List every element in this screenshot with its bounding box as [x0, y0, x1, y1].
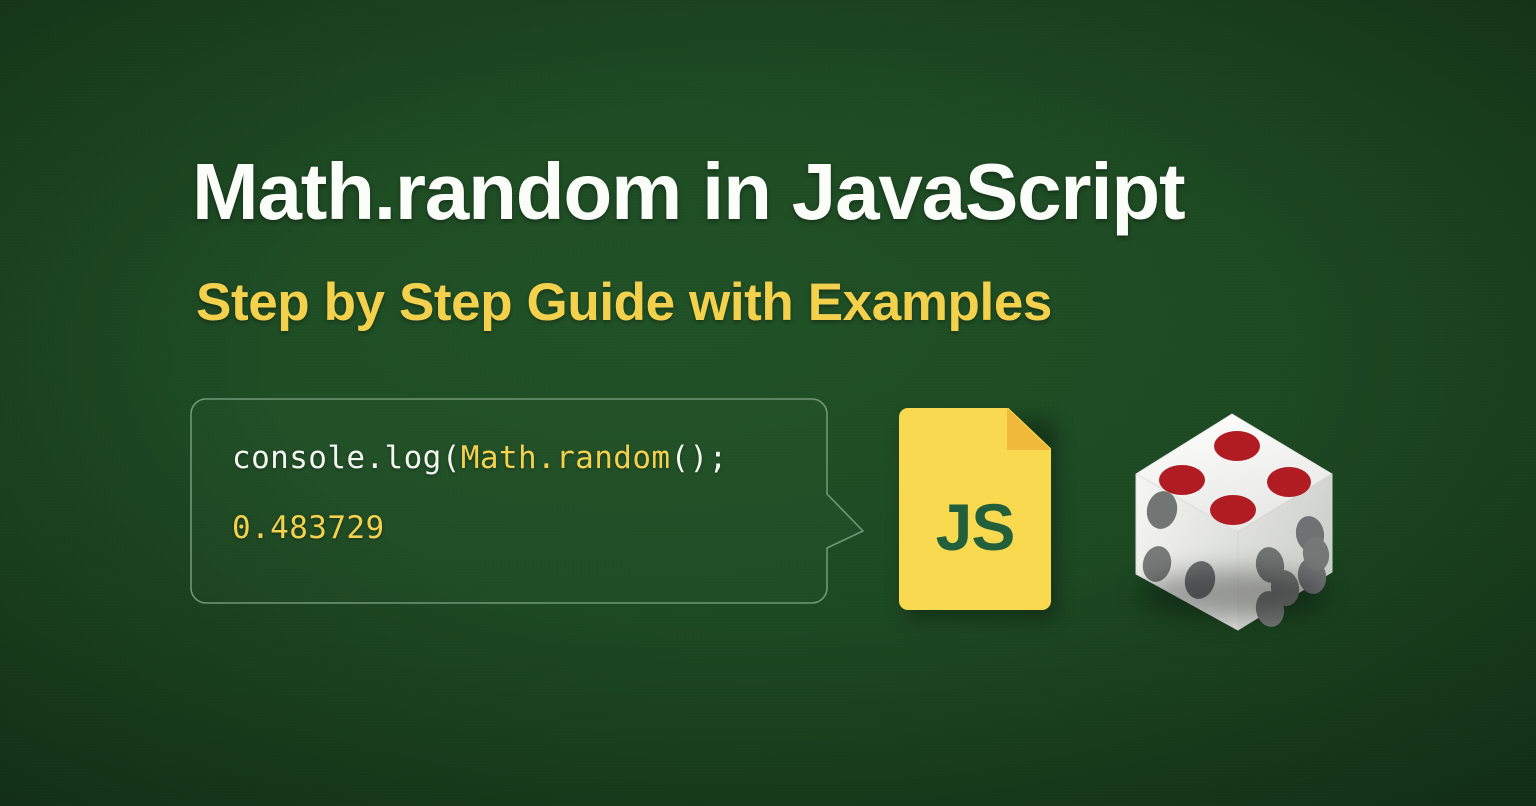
- dice-shadow: [1138, 570, 1328, 618]
- code-token-suffix: ();: [670, 440, 727, 476]
- js-icon-label: JS: [899, 494, 1051, 560]
- page-title: Math.random in JavaScript: [192, 146, 1184, 238]
- javascript-file-icon: JS: [899, 408, 1057, 616]
- dice-icon: [1120, 402, 1352, 642]
- code-line-statement: console.log(Math.random();: [232, 440, 828, 476]
- code-token-math-random: Math.random: [461, 440, 671, 476]
- page-subtitle: Step by Step Guide with Examples: [196, 272, 1052, 333]
- code-line-output: 0.483729: [232, 510, 828, 546]
- code-speech-bubble: console.log(Math.random(); 0.483729: [190, 398, 870, 613]
- banner-canvas: Math.random in JavaScript Step by Step G…: [0, 0, 1536, 806]
- code-block: console.log(Math.random(); 0.483729: [190, 398, 828, 604]
- code-token-prefix: console.log(: [232, 440, 461, 476]
